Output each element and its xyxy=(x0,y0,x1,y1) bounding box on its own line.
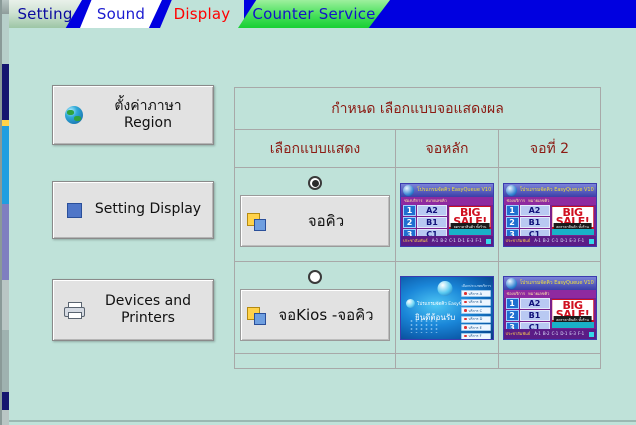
devices-button-line2: Printers xyxy=(91,310,205,328)
display-settings-table: กำหนด เลือกแบบจอแสดงผล เลือกแบบแสดง จอหล… xyxy=(234,87,601,369)
kiosk-logo-icon xyxy=(438,281,453,296)
row-kios-primary-preview-cell[interactable]: โปรแกรมจัดคิว EasyQueue V10 ยินดีต้อนรับ… xyxy=(396,262,499,354)
column-header-second-screen: จอที่ 2 xyxy=(499,130,600,168)
content-bottom-border xyxy=(9,420,636,422)
row-queue-button-label: จอคิว xyxy=(271,209,389,233)
row-kios-queue-select-cell: จอKios -จอคิว xyxy=(235,262,396,354)
region-button-line2: Region xyxy=(91,115,205,133)
devices-and-printers-button[interactable]: Devices and Printers xyxy=(52,279,214,341)
devices-button-line1: Devices and xyxy=(105,293,191,309)
row-queue-select-cell: จอคิว xyxy=(235,168,396,262)
table-column-header-row: เลือกแบบแสดง จอหลัก จอที่ 2 xyxy=(235,130,600,168)
row-kios-queue-radio[interactable] xyxy=(308,270,322,284)
globe-icon xyxy=(57,106,91,124)
queue-display-preview[interactable]: โปรแกรมจัดคิว EasyQueue V10 ช่องบริการ ห… xyxy=(503,183,597,247)
table-trailing-row xyxy=(235,354,600,368)
preview-logo-icon xyxy=(506,278,517,289)
kiosk-welcome-preview[interactable]: โปรแกรมจัดคิว EasyQueue V10 ยินดีต้อนรับ… xyxy=(400,276,494,340)
row-queue-button[interactable]: จอคิว xyxy=(240,195,390,247)
region-button-label: ตั้งค่าภาษา Region xyxy=(91,98,213,133)
queue-display-preview[interactable]: โปรแกรมจัดคิว EasyQueue V10 ช่องบริการ ห… xyxy=(503,276,597,340)
setting-display-button-line1: Setting Display xyxy=(95,201,201,217)
tab-sound[interactable]: Sound xyxy=(80,0,162,28)
tab-counter-service-label: Counter Service xyxy=(252,5,375,23)
table-row: จอคิว โปรแกรมจัดคิว EasyQueue V10 ช่องบร… xyxy=(235,168,600,262)
kiosk-brand-icon xyxy=(406,299,415,308)
row-queue-primary-preview-cell[interactable]: โปรแกรมจัดคิว EasyQueue V10 ช่องบริการ ห… xyxy=(396,168,499,262)
kiosk-dot-pattern xyxy=(409,319,439,333)
setting-display-button[interactable]: Setting Display xyxy=(52,181,214,239)
column-header-select-type: เลือกแบบแสดง xyxy=(235,130,396,168)
row-kios-secondary-preview-cell[interactable]: โปรแกรมจัดคิว EasyQueue V10 ช่องบริการ ห… xyxy=(499,262,600,354)
region-button-line1: ตั้งค่าภาษา xyxy=(114,98,181,114)
tab-display-label: Display xyxy=(174,5,231,23)
tab-setting-label: Setting xyxy=(17,5,72,23)
tab-setting[interactable]: Setting xyxy=(8,0,82,28)
queue-display-preview[interactable]: โปรแกรมจัดคิว EasyQueue V10 ช่องบริการ ห… xyxy=(400,183,494,247)
printer-icon xyxy=(57,302,91,318)
region-button[interactable]: ตั้งค่าภาษา Region xyxy=(52,85,214,145)
blue-square-icon xyxy=(57,203,91,218)
two-squares-icon xyxy=(241,213,271,229)
preview-logo-icon xyxy=(506,185,517,196)
table-row: จอKios -จอคิว โปรแกรมจัดคิว EasyQueue V1… xyxy=(235,262,600,354)
tab-sound-label: Sound xyxy=(97,5,145,23)
column-header-primary-screen: จอหลัก xyxy=(396,130,499,168)
table-main-header-label: กำหนด เลือกแบบจอแสดงผล xyxy=(331,98,504,120)
table-main-header: กำหนด เลือกแบบจอแสดงผล xyxy=(235,88,600,130)
background-window-edge xyxy=(0,0,9,425)
tab-counter-service[interactable]: Counter Service xyxy=(238,0,390,28)
row-queue-secondary-preview-cell[interactable]: โปรแกรมจัดคิว EasyQueue V10 ช่องบริการ ห… xyxy=(499,168,600,262)
row-queue-radio[interactable] xyxy=(308,176,322,190)
tab-display[interactable]: Display xyxy=(160,0,244,28)
row-kios-queue-button[interactable]: จอKios -จอคิว xyxy=(240,289,390,341)
tab-bar: Setting Sound Display Counter Service xyxy=(0,0,636,28)
devices-and-printers-button-label: Devices and Printers xyxy=(91,293,213,328)
two-squares-icon xyxy=(241,307,271,323)
setting-display-button-label: Setting Display xyxy=(91,201,213,219)
row-kios-queue-button-label: จอKios -จอคิว xyxy=(271,303,389,327)
preview-logo-icon xyxy=(403,185,414,196)
